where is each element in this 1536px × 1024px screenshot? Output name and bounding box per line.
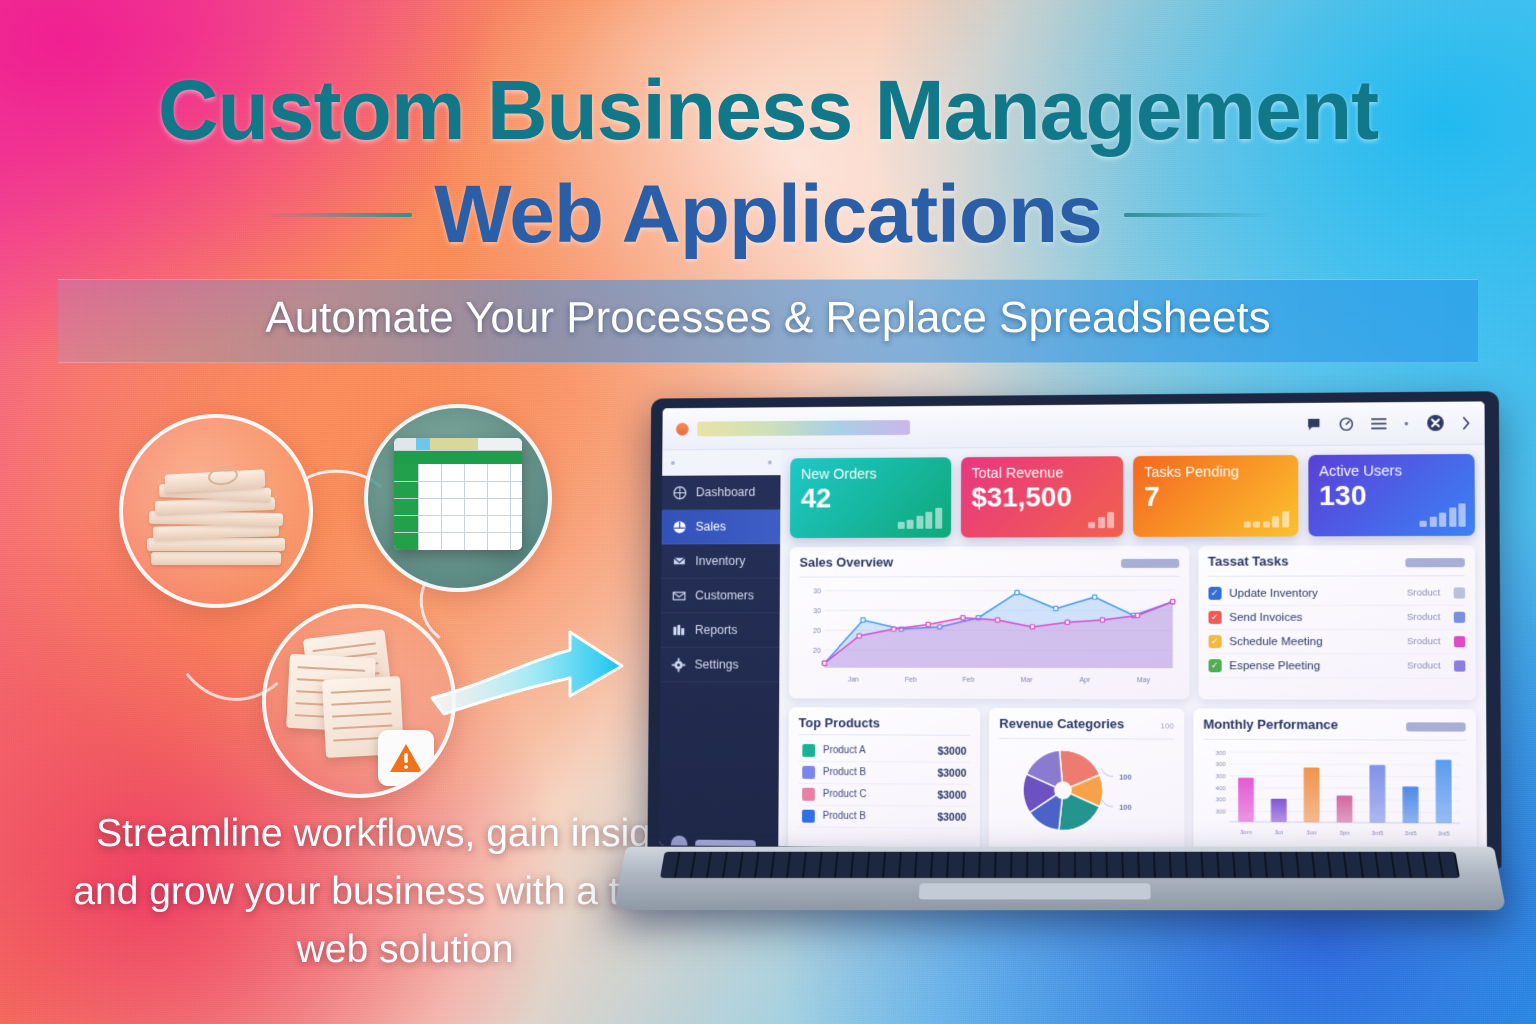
svg-text:20: 20 [813,648,821,655]
revenue-categories-card: Revenue Categories 100 100100 [989,708,1184,852]
paper-stack-illustration [119,414,313,608]
spreadsheet-illustration [364,404,552,592]
documents-warning-illustration [262,604,456,798]
task-tag-icon [1454,660,1465,671]
task-meta: Sroduct [1407,660,1441,671]
card-action-pill[interactable] [1406,722,1466,731]
product-row[interactable]: Product A$3000 [798,740,970,763]
chevron-right-icon[interactable] [1462,416,1470,429]
task-label: Espense Pleeting [1229,660,1399,672]
kpi-sparkline [1243,503,1289,527]
sidebar-item-label: Sales [696,520,726,534]
gauge-icon[interactable] [1339,416,1354,431]
inventory-box-icon [672,554,687,569]
laptop-base [614,847,1507,911]
sales-overview-line-chart: 30302020JanFebFebMarAprMay [799,582,1179,686]
task-tag-icon [1454,636,1465,647]
task-meta: Sroduct [1407,612,1441,623]
svg-text:400: 400 [1215,786,1226,792]
laptop-keyboard [660,852,1460,878]
card-title: Tassat Tasks [1208,553,1289,568]
task-label: Update Inventory [1229,587,1398,599]
sidebar-item-label: Customers [695,589,754,603]
settings-gear-icon [671,657,686,672]
laptop-screen: Dashboard Sales Inventor [659,401,1487,852]
card-title: Revenue Categories [999,716,1124,731]
task-meta: Sroduct [1407,636,1441,647]
page-subtitle: Automate Your Processes & Replace Spread… [0,293,1536,343]
svg-text:300: 300 [1215,798,1226,804]
warning-triangle-icon [378,730,434,786]
svg-text:300: 300 [1215,809,1226,815]
task-meta: Sroduct [1407,587,1441,598]
monthly-performance-bar-chart: 3003003004003003003om3ot3on3pn3nt53nt53n… [1203,745,1466,840]
kpi-card-active-users[interactable]: Active Users 130 [1308,454,1475,536]
dashboard-row-middle: Sales Overview 30302020JanFebFebMarAprMa… [789,545,1476,700]
task-tag-icon [1454,587,1465,598]
transition-arrow-icon [430,620,630,720]
svg-text:20: 20 [813,628,821,635]
app-sidebar: Dashboard Sales Inventor [659,450,780,853]
svg-text:May: May [1137,677,1151,684]
kpi-sparkline [1419,502,1465,526]
svg-text:3nt5: 3nt5 [1404,831,1417,837]
customers-envelope-icon [672,588,687,603]
product-row[interactable]: Product C$3000 [798,784,970,807]
laptop-trackpad [919,883,1151,899]
kpi-sparkline [897,505,941,529]
top-products-list: Product A$3000Product B$3000Product C$30… [798,740,970,829]
svg-text:100: 100 [1119,772,1132,781]
svg-text:300: 300 [1215,751,1226,757]
laptop-mockup: Dashboard Sales Inventor [620,394,1500,914]
product-color-swatch [802,788,815,801]
product-color-swatch [802,744,815,757]
monthly-performance-card: Monthly Performance 3003003004003003003o… [1193,708,1477,852]
task-list: ✓Update InventorySroduct✓Send InvoicesSr… [1208,581,1465,678]
svg-text:Feb: Feb [962,677,974,684]
product-name: Product A [823,745,930,756]
sidebar-item-label: Settings [695,658,739,672]
task-tag-icon [1454,612,1465,623]
product-row[interactable]: Product B$3000 [798,762,970,785]
svg-text:30: 30 [813,609,821,616]
kpi-label: Tasks Pending [1144,464,1286,481]
spreadsheet-grid [394,464,522,550]
revenue-categories-pie-chart: 100100 [999,744,1174,838]
svg-text:Apr: Apr [1079,677,1091,684]
sidebar-item-sales[interactable]: Sales [662,510,781,545]
task-row[interactable]: ✓Send InvoicesSroduct [1208,606,1465,630]
card-action-label[interactable]: 100 [1160,721,1173,730]
sidebar-item-dashboard[interactable]: Dashboard [662,475,781,510]
tasks-card: Tassat Tasks ✓Update InventorySroduct✓Se… [1198,545,1476,700]
svg-text:3on: 3on [1306,830,1316,836]
title-rule-right [1124,213,1274,217]
svg-text:3pn: 3pn [1339,831,1349,837]
product-row[interactable]: Product B$3000 [798,806,970,829]
laptop-lid: Dashboard Sales Inventor [647,391,1501,868]
poster-stage: Custom Business Management Web Applicati… [0,0,1536,1024]
kpi-label: Active Users [1319,463,1463,480]
task-checkbox[interactable]: ✓ [1208,659,1221,672]
sidebar-item-label: Inventory [695,554,745,568]
product-color-swatch [802,810,815,823]
browser-dot-icon [676,422,689,435]
svg-text:100: 100 [1119,803,1132,812]
spreadsheet-icon [394,438,522,550]
card-title: Sales Overview [799,555,893,570]
spreadsheet-toolbar [394,438,522,451]
page-title-line1: Custom Business Management [0,62,1536,159]
task-checkbox[interactable]: ✓ [1208,587,1221,600]
hamburger-menu-icon[interactable] [1371,417,1386,430]
kpi-card-new-orders[interactable]: New Orders 42 [790,457,951,538]
sidebar-item-label: Dashboard [696,485,755,499]
spreadsheet-header-row [394,451,522,464]
dashboard-icon [673,485,688,500]
product-amount: $3000 [938,745,967,757]
sidebar-top-bar [662,450,781,476]
paper-stack-icon [145,460,287,572]
reports-chart-icon [672,623,687,638]
title-rule-left [262,213,412,217]
top-products-card: Top Products Product A$3000Product B$300… [788,707,981,852]
svg-text:Jan: Jan [848,677,859,684]
kpi-label: Total Revenue [971,465,1112,482]
task-row[interactable]: ✓Update InventorySroduct [1208,581,1465,606]
product-name: Product B [823,767,930,779]
svg-text:300: 300 [1215,774,1226,780]
svg-text:Mar: Mar [1021,677,1034,684]
browser-toolbar [662,401,1484,450]
svg-text:300: 300 [1215,762,1226,768]
product-amount: $3000 [937,767,966,779]
card-title: Top Products [799,715,971,731]
sales-tag-icon [672,519,687,534]
card-action-pill[interactable] [1121,559,1179,568]
sidebar-item-reports[interactable]: Reports [661,613,780,648]
product-name: Product B [823,811,930,823]
svg-text:3ot: 3ot [1274,830,1283,836]
sidebar-item-settings[interactable]: Settings [660,648,779,683]
svg-text:3om: 3om [1240,830,1252,836]
card-title: Monthly Performance [1203,717,1338,733]
task-label: Schedule Meeting [1229,636,1399,648]
svg-text:3nt5: 3nt5 [1438,831,1451,837]
chat-bubble-icon[interactable] [1306,416,1321,431]
svg-text:30: 30 [813,589,821,596]
kpi-card-row: New Orders 42 Total Revenue $31,500 Task… [790,454,1475,538]
card-action-pill[interactable] [1405,558,1464,567]
task-checkbox[interactable]: ✓ [1208,611,1221,624]
page-title-line2: Web Applications [434,168,1101,262]
product-amount: $3000 [937,789,966,801]
sidebar-item-customers[interactable]: Customers [661,579,780,614]
kpi-label: New Orders [801,466,940,483]
product-color-swatch [802,766,815,779]
page-title-line2-row: Web Applications [0,168,1536,262]
sidebar-item-label: Reports [695,623,738,637]
sidebar-item-inventory[interactable]: Inventory [661,544,780,579]
kpi-sparkline [1088,504,1114,528]
account-avatar-icon[interactable] [1426,414,1444,432]
address-bar[interactable] [697,420,910,436]
dashboard-main: New Orders 42 Total Revenue $31,500 Task… [778,445,1487,852]
task-row[interactable]: ✓Schedule MeetingSroduct [1208,630,1465,654]
dashboard-row-bottom: Top Products Product A$3000Product B$300… [788,707,1477,852]
product-amount: $3000 [937,811,966,823]
sales-overview-card: Sales Overview 30302020JanFebFebMarAprMa… [789,546,1189,700]
svg-text:3nt5: 3nt5 [1371,831,1384,837]
task-checkbox[interactable]: ✓ [1208,635,1221,648]
dot-icon [1404,421,1409,426]
svg-text:Feb: Feb [905,677,917,684]
task-label: Send Invoices [1229,611,1399,623]
kpi-card-tasks-pending[interactable]: Tasks Pending 7 [1133,455,1298,537]
kpi-card-total-revenue[interactable]: Total Revenue $31,500 [960,456,1123,537]
product-name: Product C [823,789,930,801]
task-row[interactable]: ✓Espense PleetingSroduct [1208,654,1465,679]
